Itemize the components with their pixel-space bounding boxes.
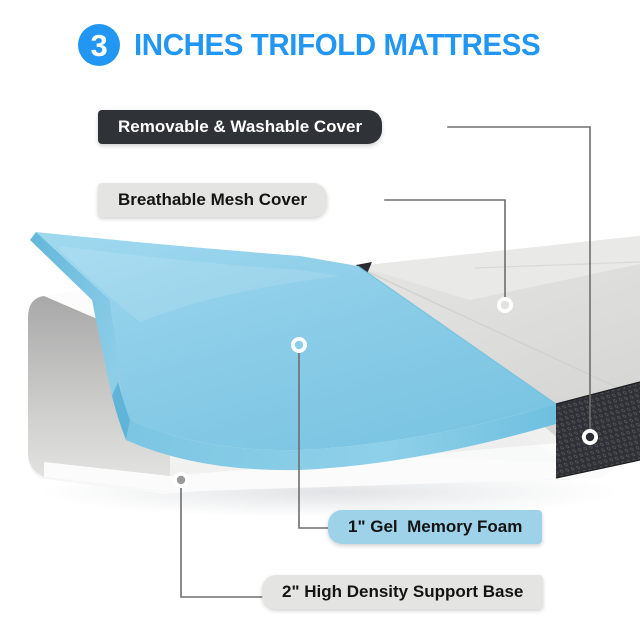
mattress-infographic: 3 INCHES TRIFOLD MATTRESS (0, 0, 640, 640)
callout-high-density-support-base[interactable]: 2" High Density Support Base (262, 575, 543, 609)
callout-breathable-mesh-cover[interactable]: Breathable Mesh Cover (98, 183, 327, 217)
mattress-illustration (0, 0, 640, 640)
callout-gel-memory-foam[interactable]: 1" Gel Memory Foam (328, 510, 542, 544)
callout-removable-washable-cover[interactable]: Removable & Washable Cover (98, 110, 382, 144)
